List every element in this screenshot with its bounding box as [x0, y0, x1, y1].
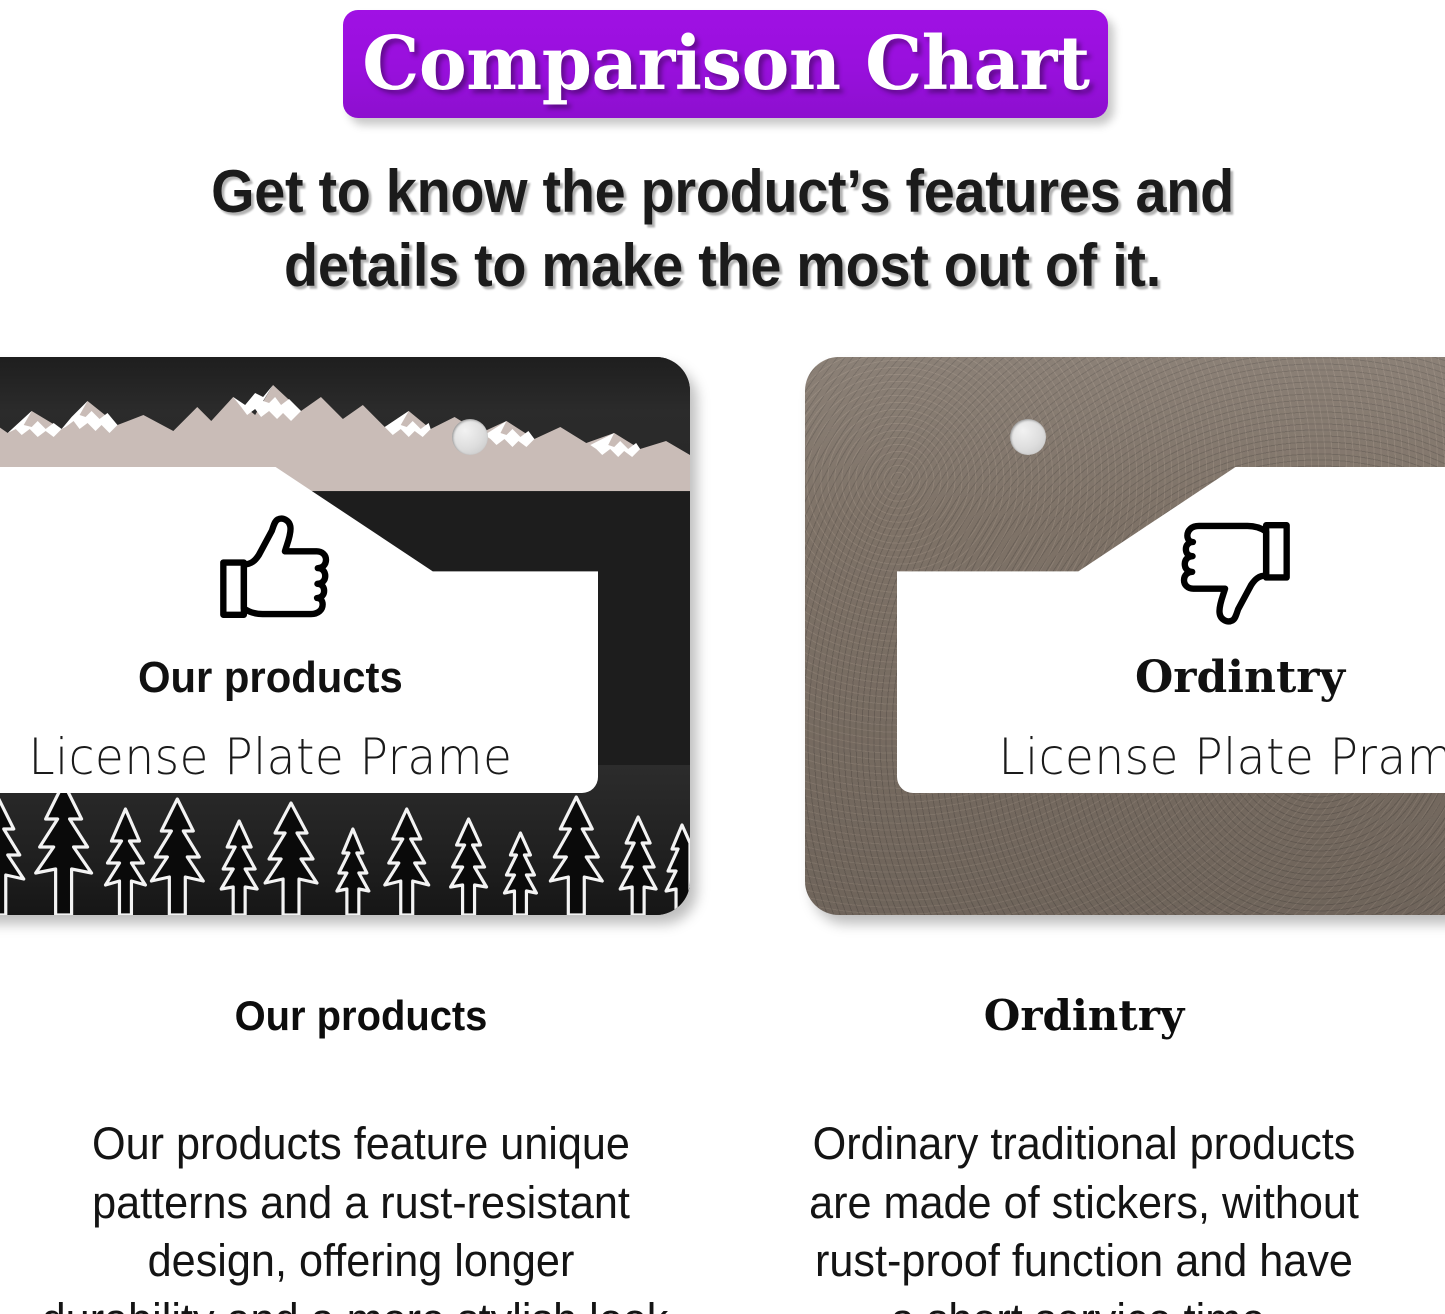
description-line: design, offering longer — [14, 1232, 707, 1291]
description-column-ours: Our products Our products feature unique… — [0, 995, 722, 1314]
description-line: are made of stickers, without — [737, 1174, 1430, 1233]
subtitle-line-2: details to make the most out of it. — [51, 229, 1395, 303]
subtitle: Get to know the product’s features and d… — [51, 155, 1395, 304]
license-plate-frame-ours: Our products License Plate Prame — [0, 357, 690, 915]
description-line: a short service time. — [737, 1291, 1430, 1314]
subtitle-line-1: Get to know the product’s features and — [51, 155, 1395, 229]
product-panel-ordinary: Ordintry License Plate Prame — [805, 357, 1445, 915]
thumbs-up-icon — [210, 514, 330, 626]
title-banner: Comparison Chart — [343, 10, 1108, 118]
brand-label-ours: Our products — [138, 656, 403, 700]
mounting-hole-ours — [452, 419, 488, 455]
comparison-chart-page: Comparison Chart Get to know the product… — [0, 0, 1445, 1314]
description-heading-ordinary: Ordintry — [723, 995, 1445, 1037]
description-line: durability and a more stylish look. — [14, 1291, 707, 1314]
thumbs-down-icon — [1180, 514, 1300, 626]
product-panel-ours: Our products License Plate Prame — [0, 357, 690, 915]
description-line: patterns and a rust-resistant — [14, 1174, 707, 1233]
description-heading-ours: Our products — [0, 995, 722, 1037]
product-name-ours: License Plate Prame — [28, 732, 512, 782]
description-line: Our products feature unique — [14, 1115, 707, 1174]
description-column-ordinary: Ordintry Ordinary traditional products a… — [723, 995, 1445, 1314]
product-name-ordinary: License Plate Prame — [998, 732, 1445, 782]
license-plate-frame-ordinary: Ordintry License Plate Prame — [805, 357, 1445, 915]
description-line: rust-proof function and have — [737, 1232, 1430, 1291]
page-title: Comparison Chart — [362, 27, 1089, 101]
description-line: Ordinary traditional products — [737, 1115, 1430, 1174]
brand-label-ordinary: Ordintry — [1135, 656, 1345, 700]
description-body-ordinary: Ordinary traditional products are made o… — [737, 1115, 1430, 1314]
mounting-hole-ordinary — [1010, 419, 1046, 455]
description-body-ours: Our products feature unique patterns and… — [14, 1115, 707, 1314]
